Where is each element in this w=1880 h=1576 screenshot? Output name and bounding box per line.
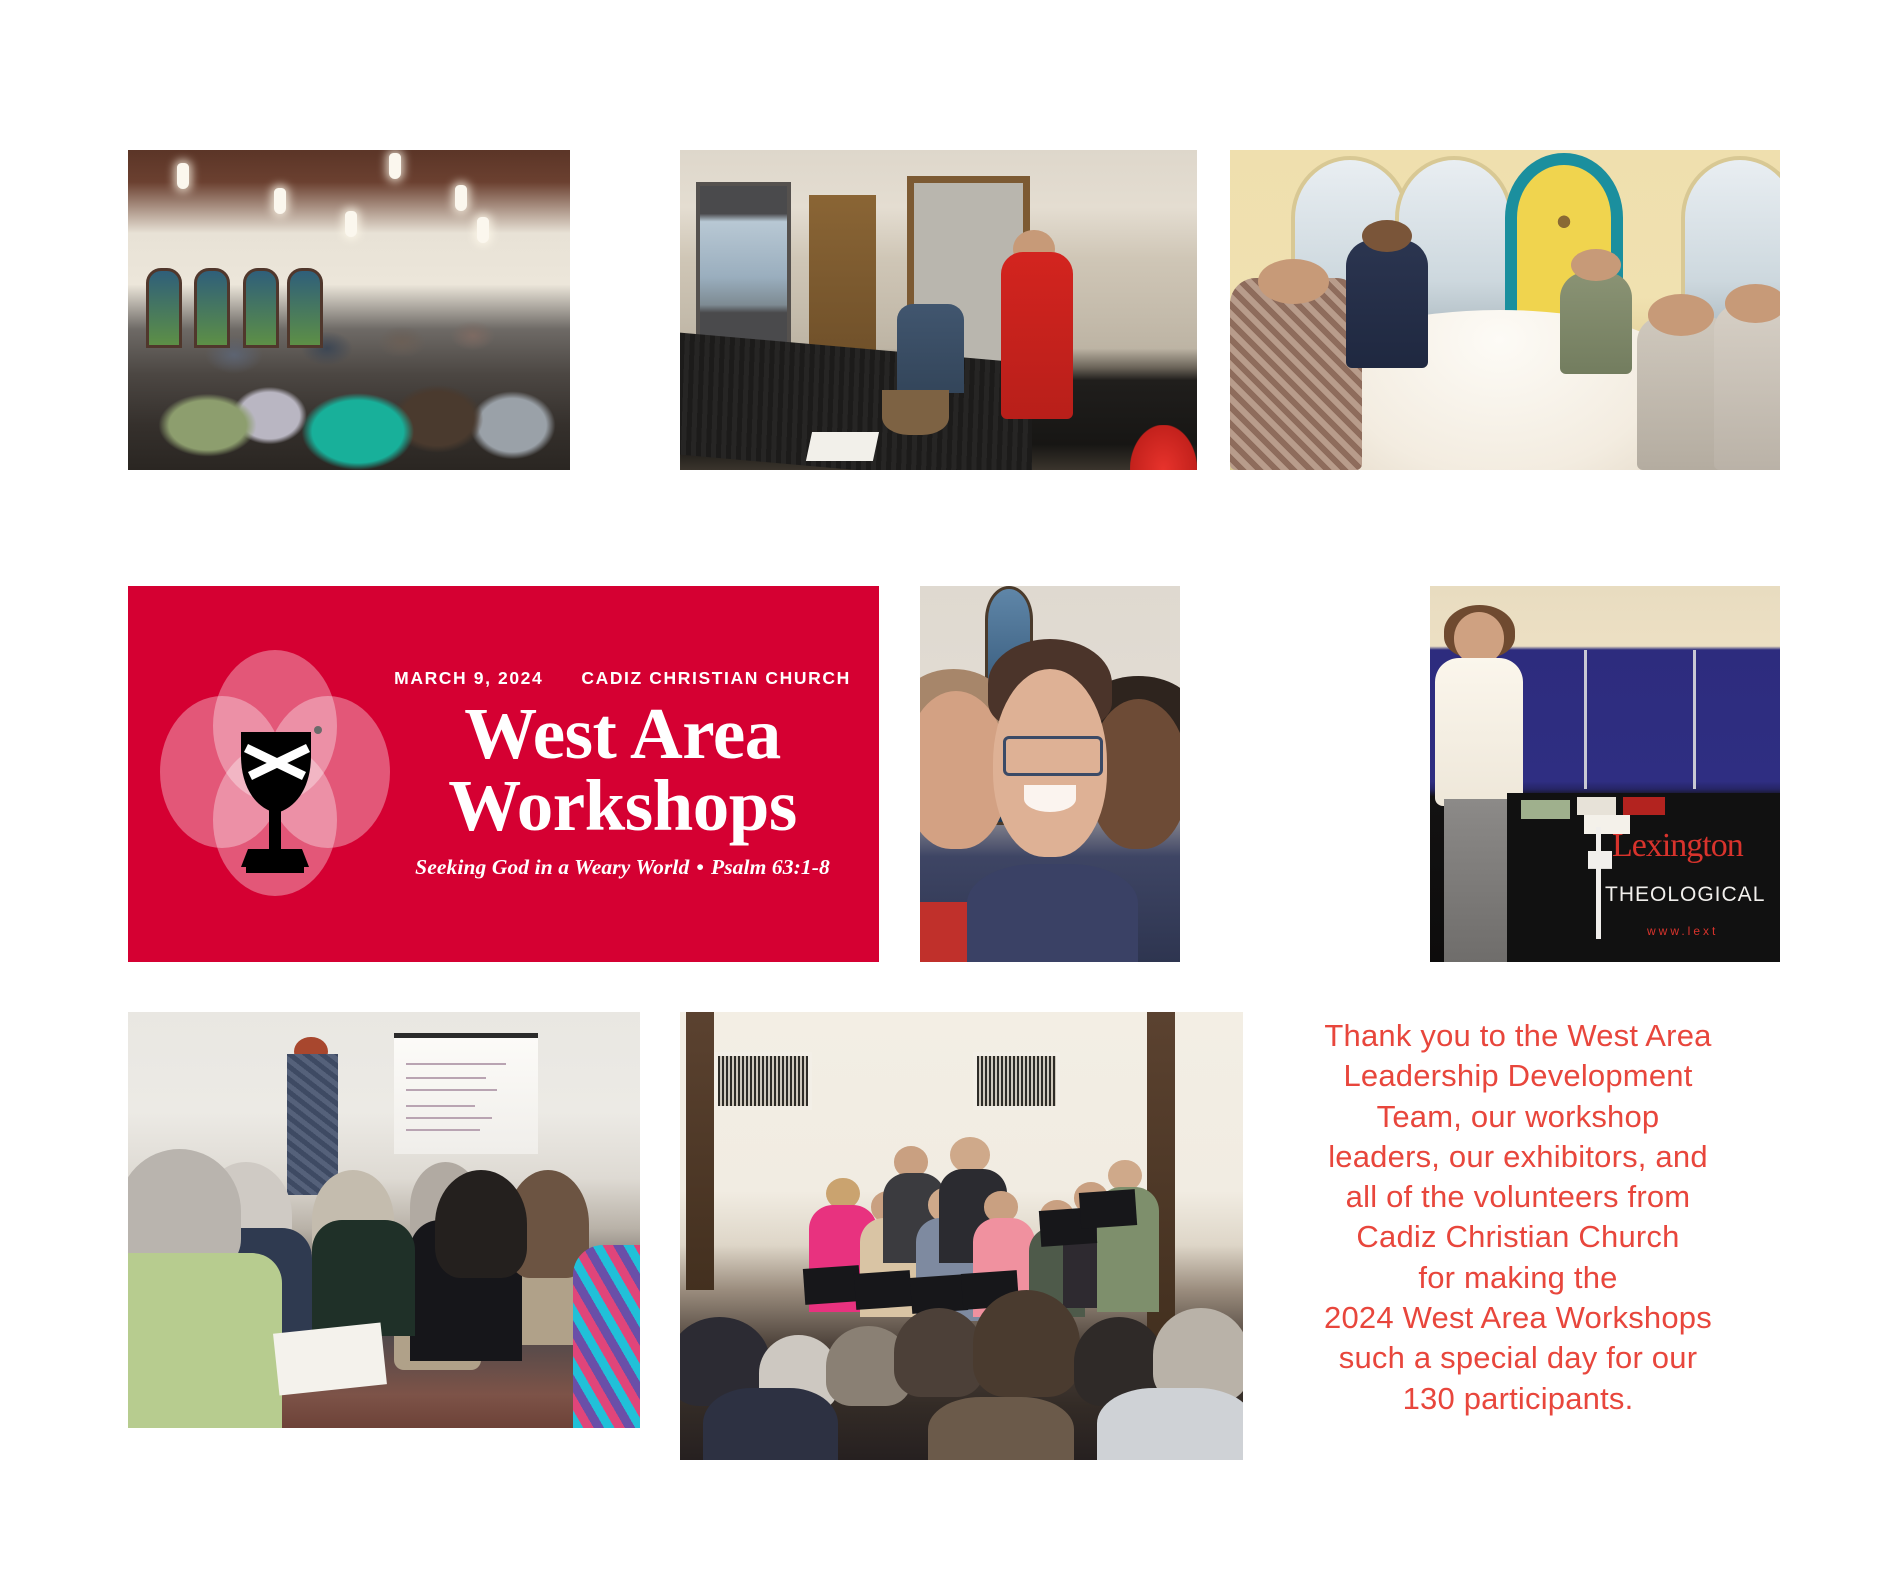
- thank-you-message: Thank you to the West Area Leadership De…: [1268, 1016, 1768, 1419]
- wall-vent: [714, 1052, 812, 1109]
- pendant-lamp: [389, 153, 401, 179]
- pendant-lamp: [455, 185, 467, 211]
- banner-tagline-scripture: Psalm 63:1-8: [711, 855, 830, 879]
- seated-volunteer: [897, 304, 964, 394]
- display-board-divider: [1584, 650, 1587, 789]
- photo-sanctuary: [128, 150, 570, 470]
- presenter: [287, 1054, 338, 1195]
- photo-selfie-image: [920, 586, 1180, 962]
- photo-welcome-image: [680, 150, 1197, 470]
- attendee-body: [573, 1245, 640, 1428]
- banner-tagline: Seeking God in a Weary World•Psalm 63:1-…: [390, 855, 855, 880]
- photo-selfie: [920, 586, 1180, 962]
- attendee-head: [435, 1170, 527, 1278]
- banner-text-block: MARCH 9, 2024 CADIZ CHRISTIAN CHURCH Wes…: [390, 668, 855, 880]
- chalice-logo: [160, 644, 390, 904]
- stained-glass-window: [146, 268, 182, 348]
- projection-screen: [394, 1033, 537, 1154]
- thank-you-line: Team, our workshop: [1268, 1097, 1768, 1137]
- photo-choir-image: [680, 1012, 1243, 1460]
- stained-glass-window: [243, 268, 279, 348]
- collage-canvas: MARCH 9, 2024 CADIZ CHRISTIAN CHURCH Wes…: [0, 0, 1880, 1576]
- audience-head: [894, 1308, 984, 1398]
- photo-booth-image: Lexington THEOLOGICAL www.lext: [1430, 586, 1780, 962]
- photo-sanctuary-image: [128, 150, 570, 470]
- stained-glass-window: [194, 268, 230, 348]
- audience-body: [703, 1388, 838, 1460]
- photo-banquet-image: [1230, 150, 1780, 470]
- banquet-guest-head: [1362, 220, 1412, 252]
- thank-you-line: Leadership Development: [1268, 1056, 1768, 1096]
- banquet-guest: [1714, 304, 1780, 470]
- pendant-lamp: [477, 217, 489, 243]
- stained-glass-window: [287, 268, 323, 348]
- exhibitor-pants: [1444, 799, 1513, 962]
- sign-in-sheet: [806, 432, 879, 461]
- thank-you-line: leaders, our exhibitors, and: [1268, 1137, 1768, 1177]
- banquet-guest-head: [1571, 249, 1621, 281]
- audience-head: [973, 1290, 1080, 1398]
- eyeglasses: [1003, 736, 1103, 776]
- banquet-guest-head: [1648, 294, 1714, 336]
- thank-you-line: all of the volunteers from: [1268, 1177, 1768, 1217]
- music-folder: [853, 1270, 912, 1310]
- banner-tagline-text: Seeking God in a Weary World: [415, 855, 689, 879]
- photo-banquet: [1230, 150, 1780, 470]
- exhibitor-sweater: [1435, 658, 1522, 806]
- attendee-body: [312, 1220, 414, 1336]
- banner-eyebrow: MARCH 9, 2024 CADIZ CHRISTIAN CHURCH: [390, 668, 855, 689]
- photo-workshop-image: [128, 1012, 640, 1428]
- pendant-lamp: [345, 211, 357, 237]
- banquet-guest-head: [1258, 259, 1330, 304]
- interior-door: [809, 195, 876, 368]
- banquet-guest: [1346, 240, 1429, 368]
- music-folder: [1079, 1189, 1138, 1229]
- attendee-body: [128, 1253, 282, 1428]
- banner-title: West Area Workshops: [390, 698, 855, 843]
- pendant-lamp: [177, 163, 189, 189]
- photo-choir: [680, 1012, 1243, 1460]
- banquet-guest: [1230, 278, 1362, 470]
- booth-brand-url: www.lext: [1647, 924, 1718, 938]
- event-banner: MARCH 9, 2024 CADIZ CHRISTIAN CHURCH Wes…: [128, 586, 879, 962]
- photo-booth: Lexington THEOLOGICAL www.lext: [1430, 586, 1780, 962]
- brochure: [1521, 800, 1570, 819]
- banner-date: MARCH 9, 2024: [394, 668, 543, 689]
- audience-body: [1097, 1388, 1243, 1460]
- pendant-lamp: [274, 188, 286, 214]
- thank-you-line: Cadiz Christian Church: [1268, 1217, 1768, 1257]
- thank-you-line: for making the: [1268, 1258, 1768, 1298]
- banquet-guest: [1560, 272, 1632, 374]
- photo-workshop: [128, 1012, 640, 1428]
- brochure: [1623, 797, 1665, 816]
- attendee-shirt: [967, 864, 1139, 962]
- music-folder: [803, 1265, 862, 1305]
- banner-title-line1: West Area: [390, 698, 855, 770]
- choir-member-head: [950, 1137, 989, 1173]
- thank-you-line: such a special day for our: [1268, 1338, 1768, 1378]
- program-booklet: [274, 1323, 387, 1396]
- standing-volunteer: [1001, 252, 1073, 418]
- thank-you-line: 130 participants.: [1268, 1379, 1768, 1419]
- thank-you-line: Thank you to the West Area: [1268, 1016, 1768, 1056]
- booth-brand-name: Lexington: [1612, 827, 1743, 865]
- wood-column: [686, 1012, 714, 1290]
- wall-vent: [973, 1052, 1060, 1109]
- red-decoration: [1130, 425, 1197, 470]
- banner-location: CADIZ CHRISTIAN CHURCH: [581, 668, 851, 689]
- brochure: [1577, 797, 1616, 816]
- booth-brand-subtitle: THEOLOGICAL: [1605, 883, 1765, 907]
- smile: [1024, 785, 1076, 811]
- wicker-basket: [882, 390, 949, 435]
- photo-welcome: [680, 150, 1197, 470]
- banquet-guest-head: [1725, 284, 1780, 322]
- thank-you-line: 2024 West Area Workshops: [1268, 1298, 1768, 1338]
- banner-title-line2: Workshops: [390, 771, 855, 843]
- banner-tagline-separator: •: [689, 855, 711, 879]
- audience-body: [928, 1397, 1074, 1460]
- display-board-divider: [1693, 650, 1696, 789]
